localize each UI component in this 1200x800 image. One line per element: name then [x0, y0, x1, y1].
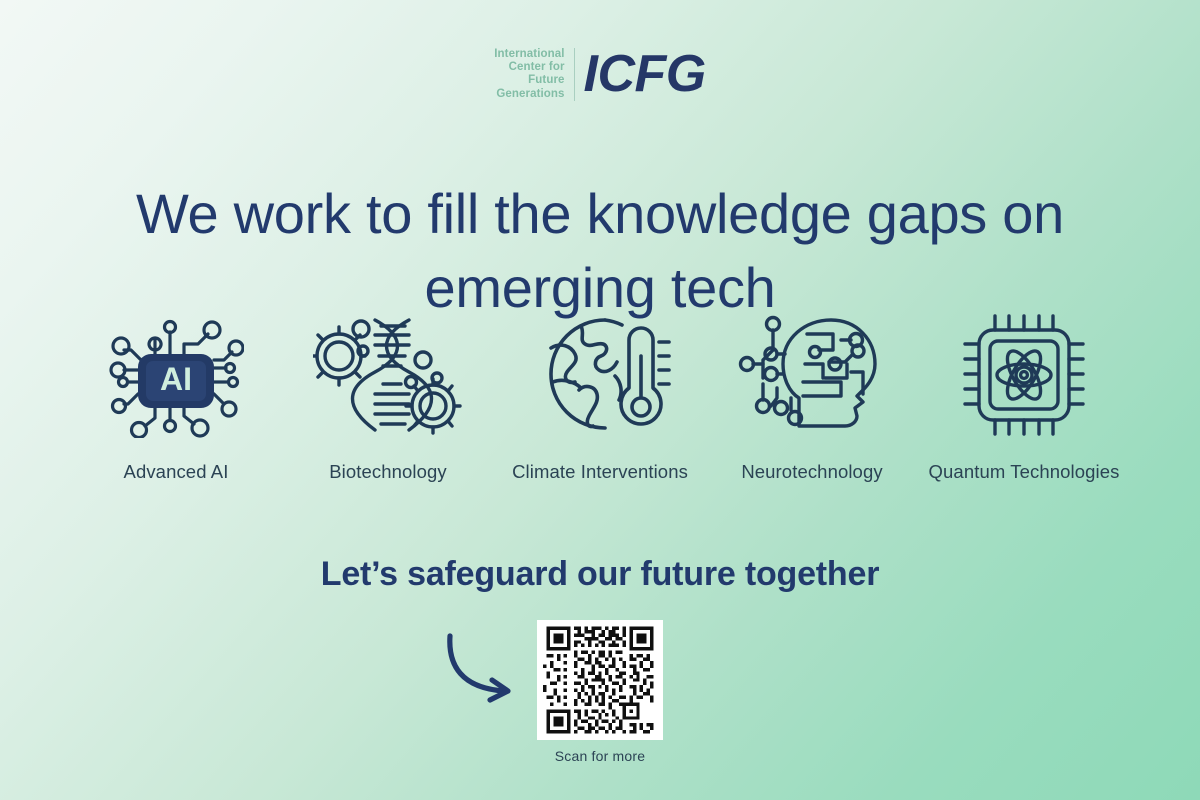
- logo-tagline: International Center for Future Generati…: [494, 48, 574, 101]
- logo-tagline-line-1: International: [494, 48, 564, 61]
- logo-inner: International Center for Future Generati…: [494, 48, 706, 101]
- page-headline: We work to fill the knowledge gaps on em…: [60, 177, 1140, 325]
- technology-pillars: AI Advanced AI: [0, 310, 1200, 485]
- dna-gears-icon: [313, 310, 463, 440]
- qr-section: Scan for more: [0, 620, 1200, 765]
- qr-holder: Scan for more: [470, 620, 730, 765]
- ai-chip-icon: AI: [108, 310, 244, 440]
- pillar-quantum-technologies[interactable]: Quantum Technologies: [918, 310, 1130, 485]
- qr-caption: Scan for more: [555, 747, 646, 765]
- curved-arrow-icon: [432, 628, 528, 713]
- pillar-label: Quantum Technologies: [929, 458, 1120, 485]
- icfg-logo[interactable]: International Center for Future Generati…: [0, 48, 1200, 101]
- svg-text:AI: AI: [160, 361, 192, 397]
- globe-thermometer-icon: [527, 310, 673, 440]
- logo-tagline-line-3: Future: [494, 74, 564, 87]
- pillar-biotechnology[interactable]: Biotechnology: [282, 310, 494, 485]
- logo-wordmark: ICFG: [584, 48, 706, 100]
- logo-tagline-line-4: Generations: [494, 88, 564, 101]
- pillar-label: Biotechnology: [329, 458, 447, 485]
- logo-tagline-line-2: Center for: [494, 61, 564, 74]
- poster-canvas: International Center for Future Generati…: [0, 0, 1200, 800]
- pillar-climate-interventions[interactable]: Climate Interventions: [494, 310, 706, 485]
- chip-atom-icon: [957, 310, 1091, 440]
- head-circuit-icon: [737, 310, 887, 440]
- pillar-label: Climate Interventions: [512, 458, 688, 485]
- cta-heading: Let’s safeguard our future together: [0, 552, 1200, 596]
- pillar-neurotechnology[interactable]: Neurotechnology: [706, 310, 918, 485]
- qr-code[interactable]: [537, 620, 663, 740]
- pillar-advanced-ai[interactable]: AI Advanced AI: [70, 310, 282, 485]
- pillar-label: Advanced AI: [124, 458, 229, 485]
- pillar-label: Neurotechnology: [741, 458, 882, 485]
